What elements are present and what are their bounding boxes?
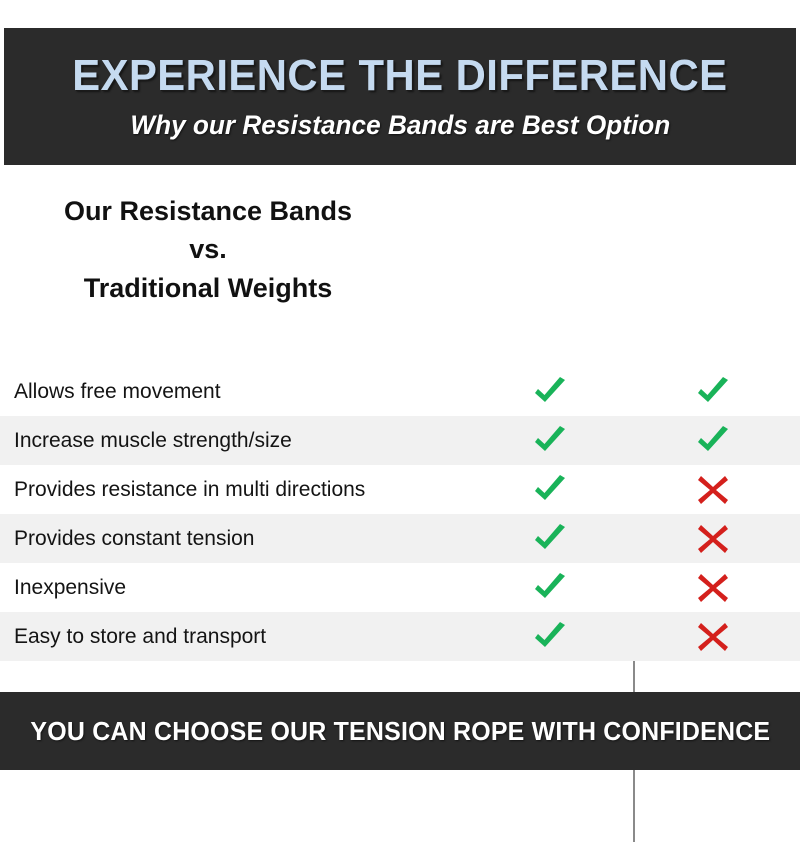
cross-icon <box>691 468 735 512</box>
comparison-table: Allows free movement Increase muscle str… <box>0 367 800 661</box>
feature-label: Easy to store and transport <box>14 625 266 649</box>
feature-label: Allows free movement <box>14 380 221 404</box>
table-row: Provides resistance in multi directions <box>0 465 800 514</box>
check-icon <box>528 370 572 414</box>
page-subtitle: Why our Resistance Bands are Best Option <box>130 112 670 139</box>
cross-icon <box>691 566 735 610</box>
check-icon <box>691 419 735 463</box>
comparison-header: Our Resistance Bands vs. Traditional Wei… <box>0 180 800 365</box>
table-row: Inexpensive <box>0 563 800 612</box>
comparison-heading-line3: Traditional Weights <box>8 269 408 307</box>
feature-label: Provides constant tension <box>14 527 254 551</box>
check-icon <box>528 419 572 463</box>
bottom-banner: YOU CAN CHOOSE OUR TENSION ROPE WITH CON… <box>0 692 800 770</box>
cross-icon <box>691 517 735 561</box>
cross-icon <box>691 615 735 659</box>
feature-label: Provides resistance in multi directions <box>14 478 365 502</box>
feature-label: Inexpensive <box>14 576 126 600</box>
check-icon <box>528 517 572 561</box>
top-banner: EXPERIENCE THE DIFFERENCE Why our Resist… <box>4 28 796 165</box>
table-row: Allows free movement <box>0 367 800 416</box>
comparison-heading-line1: Our Resistance Bands <box>8 192 408 230</box>
check-icon <box>528 566 572 610</box>
check-icon <box>691 370 735 414</box>
table-row: Provides constant tension <box>0 514 800 563</box>
check-icon <box>528 615 572 659</box>
table-row: Increase muscle strength/size <box>0 416 800 465</box>
feature-label: Increase muscle strength/size <box>14 429 292 453</box>
table-row: Easy to store and transport <box>0 612 800 661</box>
comparison-heading: Our Resistance Bands vs. Traditional Wei… <box>8 192 408 307</box>
check-icon <box>528 468 572 512</box>
comparison-heading-line2: vs. <box>8 230 408 268</box>
page-title: EXPERIENCE THE DIFFERENCE <box>72 54 727 98</box>
footer-tagline: YOU CAN CHOOSE OUR TENSION ROPE WITH CON… <box>30 716 770 747</box>
